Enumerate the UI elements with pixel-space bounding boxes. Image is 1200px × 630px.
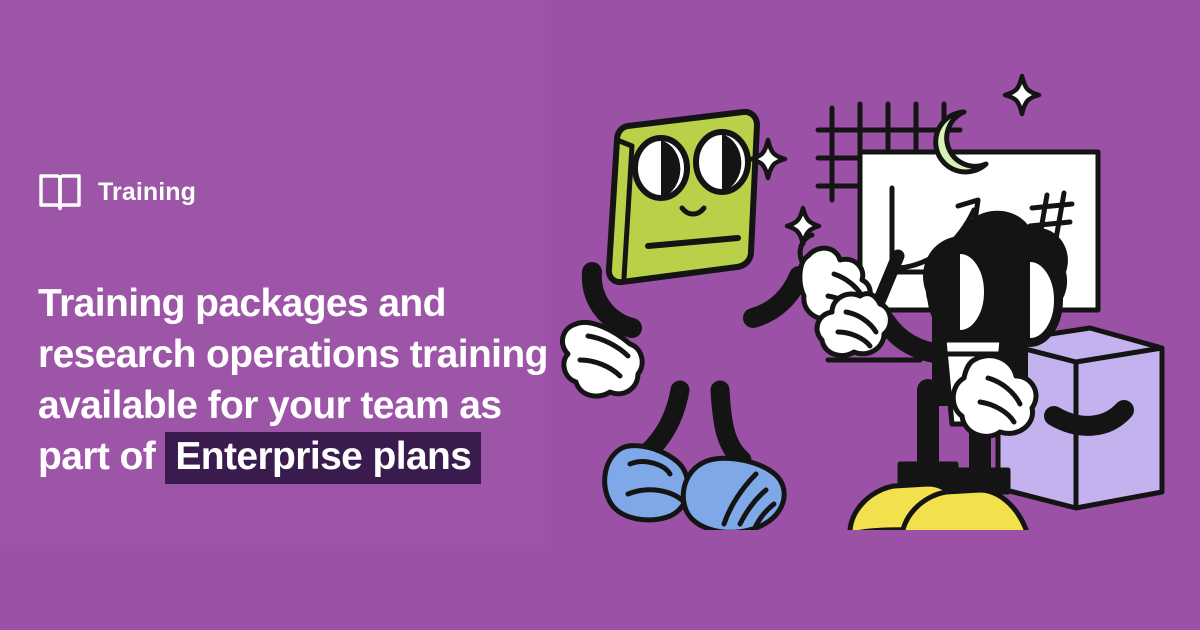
page-title: Training packages andresearch operations…: [38, 278, 558, 482]
eyebrow-label: Training: [98, 178, 196, 207]
open-book-icon: [38, 172, 82, 212]
sparkle-left: [787, 208, 819, 244]
yellow-shoes: [850, 464, 1030, 530]
headline-line-3: available for your team as: [38, 384, 501, 427]
headline-line-1: Training packages and: [38, 282, 446, 325]
training-promo-banner: Training Training packages andresearch o…: [0, 0, 1200, 630]
headline-line-4-prefix: part of: [38, 435, 165, 478]
illustration: [560, 60, 1200, 530]
blue-sneakers: [605, 446, 785, 530]
sparkle-mascot-right: [1005, 76, 1039, 114]
eyebrow: Training: [38, 172, 196, 212]
headline-line-2: research operations training: [38, 333, 548, 376]
headline-highlight: Enterprise plans: [165, 432, 481, 484]
